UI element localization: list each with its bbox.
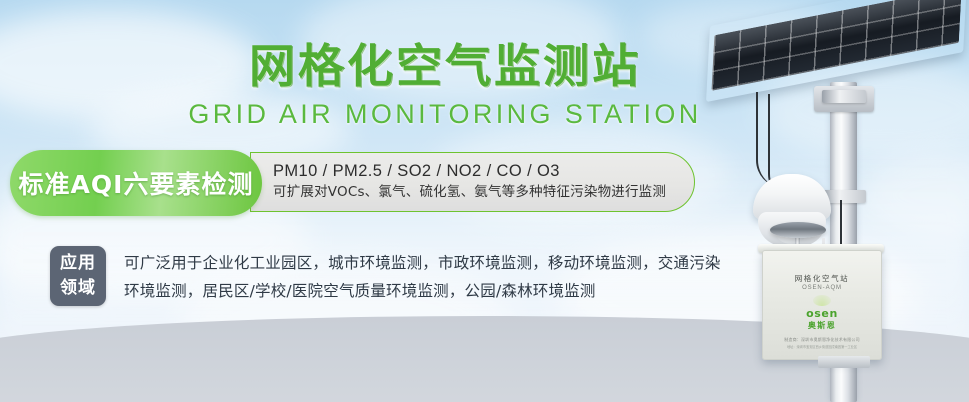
application-line-2: 环境监测，居民区/学校/医院空气质量环境监测，公园/森林环境监测: [124, 277, 721, 305]
title-block: 网格化空气监测站 GRID AIR MONITORING STATION: [185, 40, 705, 130]
application-text: 可广泛用于企业化工业园区，城市环境监测，市政环境监测，移动环境监测，交通污染 环…: [124, 246, 721, 305]
aqi-extended-line: 可扩展对VOCs、氯气、硫化氢、氨气等多种特征污染物进行监测: [273, 182, 694, 202]
enclosure-label-cn: 网格化空气站: [763, 273, 881, 284]
page-subtitle: GRID AIR MONITORING STATION: [185, 99, 705, 130]
pole-clamp: [822, 90, 866, 103]
brand-logo-cn: 奥斯恩: [763, 320, 881, 331]
pole-base-plate: [818, 356, 870, 368]
equipment-enclosure: 网格化空气站 OSEN-AQM osen 奥斯恩 制造商：深圳市奥斯恩净化技术有…: [762, 250, 882, 360]
aqi-detail-panel: PM10 / PM2.5 / SO2 / NO2 / CO / O3 可扩展对V…: [250, 152, 695, 212]
aqi-badge: 标准AQI六要素检测: [10, 150, 262, 216]
manufacturer-fine-print: 制造商：深圳市奥斯恩净化技术有限公司: [763, 337, 881, 343]
application-badge: 应用 领域: [50, 246, 106, 306]
application-badge-line1: 应用: [60, 251, 96, 276]
grid-air-monitoring-station-banner: 网格化空气监测站 GRID AIR MONITORING STATION PM1…: [0, 0, 969, 402]
brand-logo-en: osen: [763, 307, 881, 320]
weather-sensor-head: [770, 222, 826, 238]
application-line-1: 可广泛用于企业化工业园区，城市环境监测，市政环境监测，移动环境监测，交通污染: [124, 249, 721, 277]
application-badge-line2: 领域: [60, 276, 96, 301]
aqi-section: PM10 / PM2.5 / SO2 / NO2 / CO / O3 可扩展对V…: [10, 150, 695, 216]
leaf-icon: [813, 295, 831, 306]
aqi-parameters-line: PM10 / PM2.5 / SO2 / NO2 / CO / O3: [273, 160, 694, 182]
aqi-badge-label: 标准AQI六要素检测: [19, 165, 254, 201]
manufacturer-address: 地址：深圳市宝安区西乡街道固戍南昌第一工业区: [763, 344, 881, 349]
page-title: 网格化空气监测站: [185, 40, 705, 93]
monitoring-station-illustration: 网格化空气站 OSEN-AQM osen 奥斯恩 制造商：深圳市奥斯恩净化技术有…: [690, 0, 969, 402]
application-section: 应用 领域 可广泛用于企业化工业园区，城市环境监测，市政环境监测，移动环境监测，…: [50, 246, 721, 306]
enclosure-label-en: OSEN-AQM: [763, 285, 881, 291]
